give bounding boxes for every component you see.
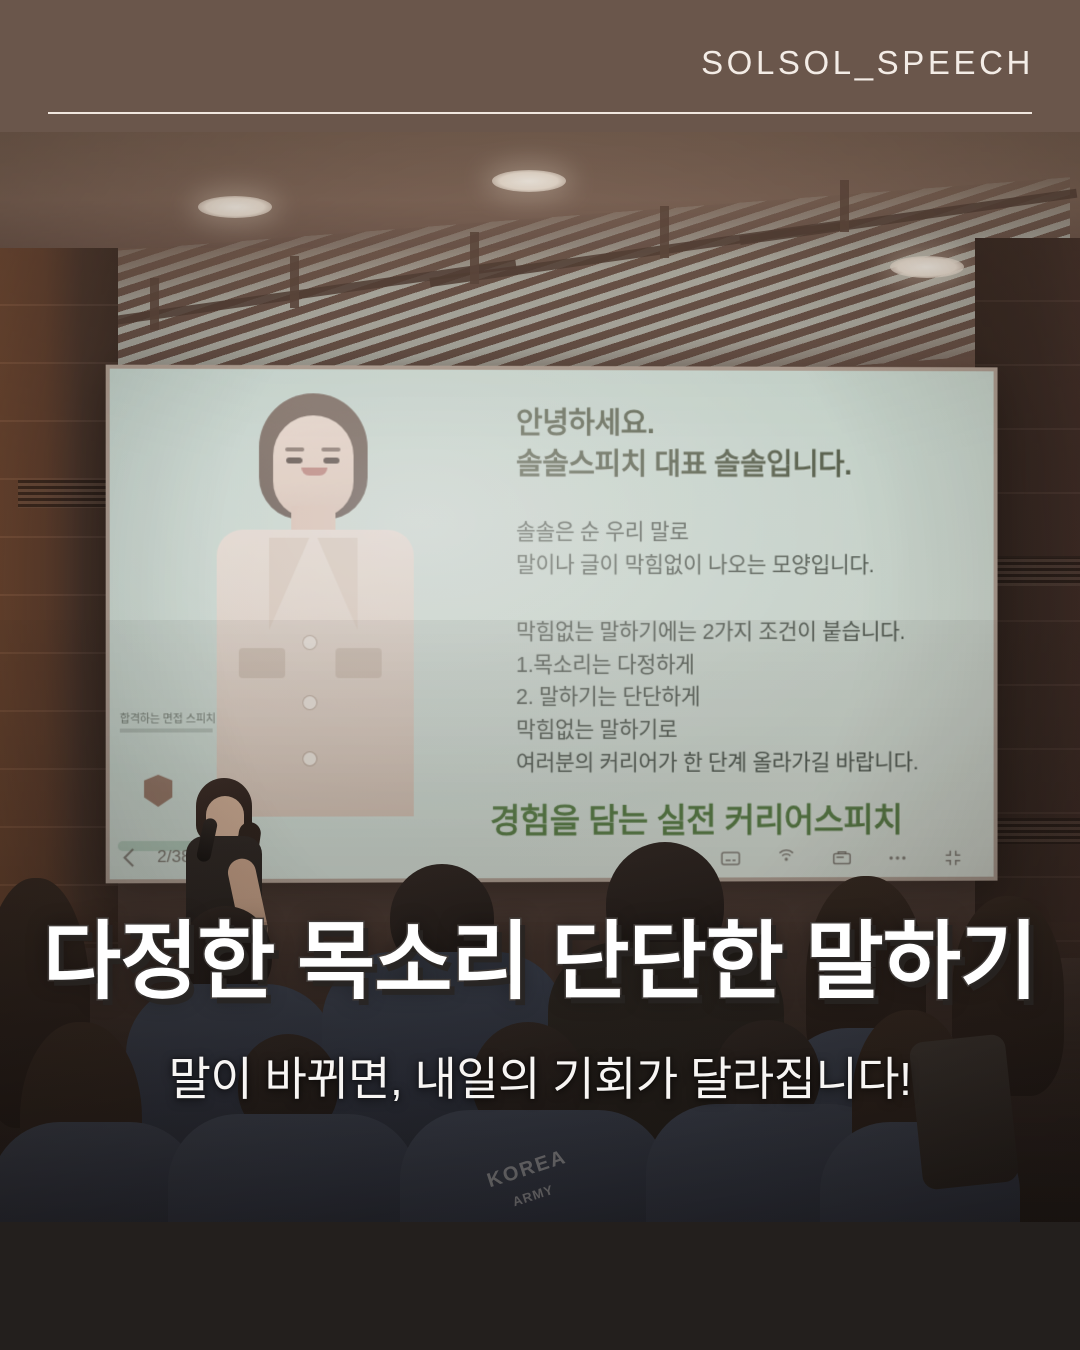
jacket-pocket: [335, 648, 381, 678]
slide-body2-line-5: 여러분의 커리어가 한 단계 올라가길 바랍니다.: [516, 746, 919, 779]
jacket-button: [303, 696, 316, 709]
subheadline: 말이 바뀌면, 내일의 기회가 달라집니다!: [0, 1056, 1080, 1102]
slide-badge-icon: [144, 775, 172, 807]
slide-person-face: [273, 415, 353, 517]
slide-body2-line-4: 막힘없는 말하기로: [516, 714, 919, 747]
ceiling-light: [198, 196, 272, 218]
slide-body2-line-1: 막힘없는 말하기에는 2가지 조건이 붙습니다.: [516, 616, 919, 649]
slide-body2-line-2: 1.목소리는 다정하게: [516, 649, 919, 682]
audience-group: KOREA ARMY: [0, 822, 1080, 1222]
audience-member: [168, 1114, 418, 1222]
brand-title: SOLSOL_SPEECH: [701, 44, 1034, 82]
slide-heading-line-1: 안녕하세요.: [516, 404, 852, 446]
slide-person-mouth: [301, 468, 327, 476]
ceiling-light: [890, 256, 964, 278]
slide-heading-line-2: 솔솔스피치 대표 솔솔입니다.: [516, 445, 852, 487]
slide-presenter-photo: [203, 379, 424, 811]
slide-body1-line-1: 솔솔은 순 우리 말로: [516, 516, 874, 549]
slide-body-paragraph-1: 솔솔은 순 우리 말로 말이나 글이 막힘없이 나오는 모양입니다.: [516, 516, 874, 582]
ceiling-hanger: [290, 256, 299, 308]
header-divider: [48, 112, 1032, 114]
jacket-button: [303, 636, 316, 649]
ceiling-hanger: [470, 232, 479, 284]
slide-mini-label: 합격하는 면접 스피치: [120, 710, 216, 726]
instagram-post-card: 안녕하세요. 솔솔스피치 대표 솔솔입니다. 솔솔은 순 우리 말로 말이나 글…: [0, 0, 1080, 1350]
jacket-lapel-left: [269, 538, 309, 630]
jacket-button: [303, 752, 316, 765]
slide-body2-line-3: 2. 말하기는 단단하게: [516, 681, 919, 714]
ceiling-hanger: [660, 206, 669, 258]
slide-heading: 안녕하세요. 솔솔스피치 대표 솔솔입니다.: [516, 404, 852, 487]
headline: 다정한 목소리 단단한 말하기: [0, 920, 1080, 1005]
jacket-lapel-right: [317, 538, 357, 630]
wall-vent: [18, 480, 114, 508]
ceiling-hanger: [840, 180, 849, 232]
ceiling-hanger: [150, 278, 159, 330]
jacket-pocket: [239, 648, 285, 678]
slide-mini-underline: [120, 728, 213, 732]
ceiling-light: [492, 170, 566, 192]
slide-body1-line-2: 말이나 글이 막힘없이 나오는 모양입니다.: [516, 549, 874, 582]
footer-band: [0, 1222, 1080, 1350]
slide-body-paragraph-2: 막힘없는 말하기에는 2가지 조건이 붙습니다. 1.목소리는 다정하게 2. …: [516, 616, 919, 779]
